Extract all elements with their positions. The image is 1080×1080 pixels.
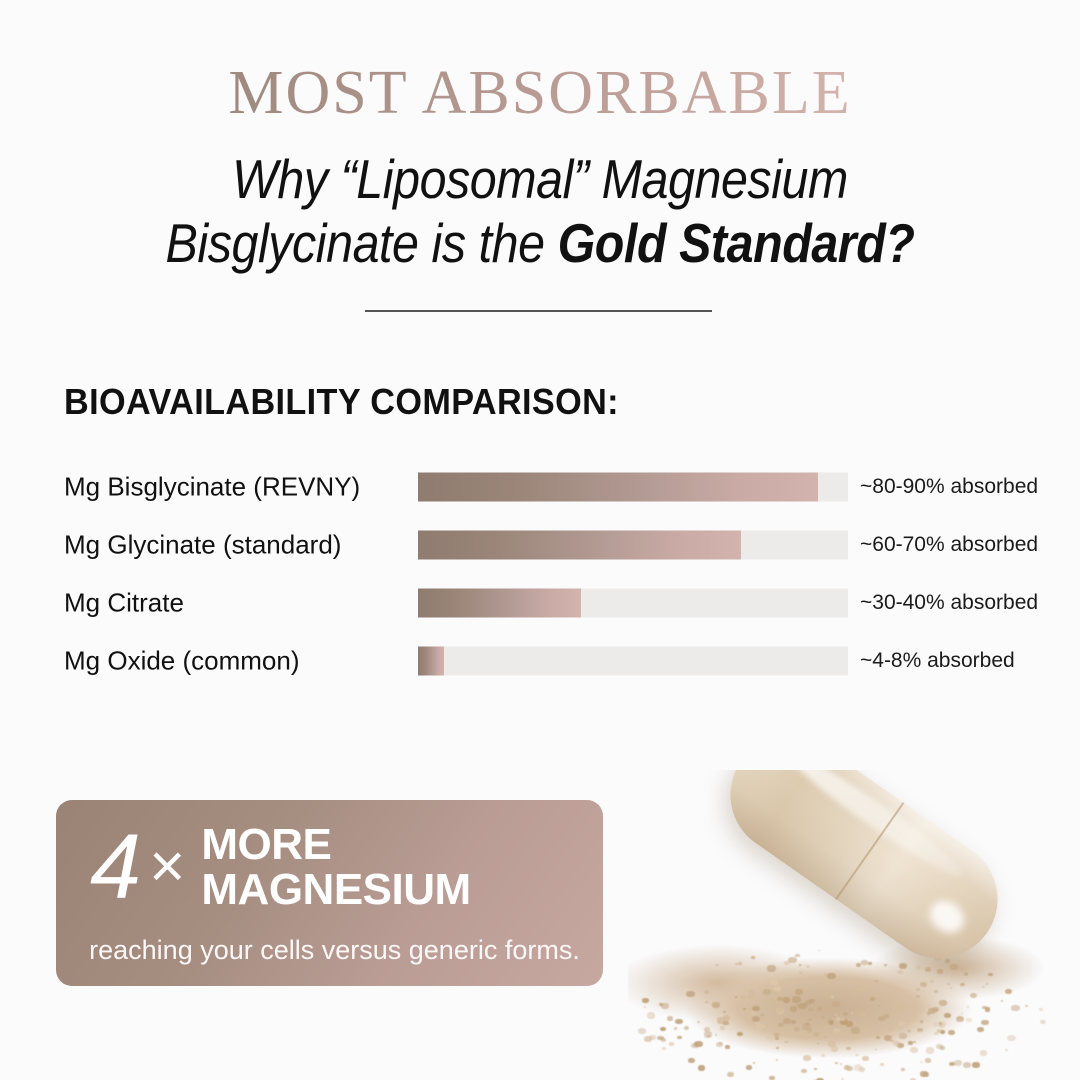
badge-headline-words: MORE MAGNESIUM	[201, 822, 470, 913]
chart-row: Mg Glycinate (standard) ~60-70% absorbed	[0, 516, 1080, 574]
badge-word-line-2: MAGNESIUM	[201, 865, 470, 914]
powder-grain	[884, 1014, 889, 1018]
powder-grain	[697, 1021, 700, 1023]
bar-track	[418, 473, 848, 502]
powder-grain	[950, 987, 953, 989]
bar-value-label: ~4-8% absorbed	[860, 649, 1015, 673]
powder-grain	[846, 1047, 851, 1050]
powder-grain	[813, 1032, 820, 1037]
powder-grain	[784, 961, 789, 965]
powder-grain	[778, 1023, 783, 1027]
badge-headline: 4 × MORE MAGNESIUM	[90, 822, 585, 913]
powder-grain	[814, 1068, 817, 1070]
powder-grain	[817, 1043, 819, 1045]
powder-grain	[835, 1062, 838, 1064]
bar-category-label: Mg Bisglycinate (REVNY)	[64, 472, 360, 503]
powder-grain	[907, 1030, 910, 1032]
powder-grain	[930, 980, 934, 983]
powder-grain	[884, 1035, 892, 1041]
powder-grain	[895, 1027, 898, 1029]
powder-grain	[920, 1020, 923, 1022]
powder-grain	[738, 962, 742, 965]
powder-grain	[966, 1018, 971, 1022]
powder-grain	[783, 997, 790, 1003]
chart-row: Mg Citrate ~30-40% absorbed	[0, 574, 1080, 632]
powder-grain	[861, 960, 868, 965]
powder-grain	[761, 1014, 764, 1016]
powder-grain	[737, 1032, 743, 1036]
powder-grain	[893, 1041, 900, 1046]
bar-category-label: Mg Citrate	[64, 588, 184, 619]
powder-grain	[698, 1065, 705, 1070]
powder-grain	[948, 1030, 955, 1035]
bar-track	[418, 589, 848, 618]
powder-grain	[823, 984, 825, 986]
powder-grain	[762, 1025, 766, 1028]
powder-grain	[876, 1036, 880, 1039]
powder-grain	[674, 1027, 678, 1030]
powder-grain	[947, 983, 950, 985]
powder-grain	[833, 1028, 840, 1034]
powder-grain	[736, 977, 739, 980]
powder-grain	[855, 1054, 858, 1057]
powder-grain	[980, 1050, 987, 1055]
powder-grain	[908, 1041, 913, 1045]
bar-category-label: Mg Oxide (common)	[64, 646, 300, 677]
powder-grain	[925, 1058, 931, 1062]
powder-grain	[796, 1004, 798, 1006]
powder-grain	[917, 1028, 922, 1032]
powder-grain	[1039, 1008, 1043, 1011]
powder-grain	[667, 1016, 673, 1021]
powder-grain	[1025, 1005, 1029, 1008]
powder-grain	[703, 986, 709, 991]
powder-grain	[986, 983, 988, 985]
powder-grain	[799, 972, 802, 974]
powder-grain	[776, 1047, 779, 1049]
powder-grain	[767, 965, 775, 971]
highlight-badge: 4 × MORE MAGNESIUM reaching your cells v…	[56, 800, 603, 986]
powder-grain	[831, 996, 834, 998]
powder-grain	[642, 998, 648, 1003]
powder-grain	[880, 1063, 884, 1066]
bar-value-label: ~80-90% absorbed	[860, 475, 1038, 499]
powder-grain	[961, 1013, 963, 1015]
powder-grain	[649, 1035, 656, 1040]
powder-grain	[897, 970, 903, 974]
powder-grain	[843, 1012, 848, 1016]
section-heading: BIOAVAILABILITY COMPARISON:	[64, 381, 619, 423]
powder-grain	[704, 1027, 711, 1032]
subtitle-line-1: Why “Liposomal” Magnesium	[232, 148, 848, 210]
powder-grain	[776, 1059, 779, 1061]
powder-grain	[644, 1006, 647, 1008]
bar-track	[418, 647, 848, 676]
powder-grain	[817, 1007, 822, 1011]
powder-grain	[775, 1037, 779, 1040]
powder-grain	[913, 1041, 916, 1043]
infographic-canvas: MOST ABSORBABLE Why “Liposomal” Magnesiu…	[0, 0, 1080, 1080]
powder-grain	[774, 986, 781, 991]
powder-grain	[723, 1011, 726, 1013]
badge-word-line-1: MORE	[201, 820, 331, 869]
powder-grain	[769, 979, 777, 985]
powder-grain	[981, 1020, 988, 1026]
powder-grain	[691, 1043, 698, 1049]
powder-grain	[939, 1022, 942, 1024]
powder-grain	[791, 1020, 796, 1024]
multiply-icon: ×	[145, 836, 201, 898]
powder-grain	[859, 1012, 866, 1017]
powder-grain	[834, 1014, 837, 1016]
powder-grain	[735, 996, 738, 998]
powder-grain	[970, 993, 978, 999]
powder-grain	[884, 964, 887, 966]
bar-value-label: ~60-70% absorbed	[860, 533, 1038, 557]
bar-fill	[418, 589, 581, 618]
powder-grain	[1011, 1005, 1020, 1011]
divider	[365, 310, 712, 312]
powder-grain	[899, 1033, 907, 1039]
powder-grain	[927, 1012, 930, 1014]
powder-grain	[743, 1008, 746, 1010]
powder-grain	[870, 997, 874, 1000]
powder-grain	[873, 992, 882, 998]
powder-grain	[776, 1007, 783, 1012]
powder-grain	[723, 1021, 728, 1025]
powder-grain	[977, 1027, 984, 1032]
powder-grain	[967, 1006, 969, 1008]
powder-grain	[808, 1018, 812, 1021]
powder-grain	[675, 1019, 683, 1025]
powder-grain	[686, 991, 694, 997]
bar-category-label: Mg Glycinate (standard)	[64, 530, 341, 561]
powder-grain	[807, 1028, 813, 1032]
powder-grain	[752, 1016, 760, 1022]
powder-grain	[795, 989, 803, 995]
powder-grain	[704, 990, 709, 994]
subtitle-emphasis: Gold Standard?	[558, 212, 915, 274]
powder-grain	[790, 1006, 797, 1011]
powder-grain	[878, 1005, 881, 1007]
bar-fill	[418, 647, 444, 676]
powder-grain	[846, 1021, 853, 1026]
powder-grain	[769, 1076, 774, 1080]
powder-grain	[808, 1008, 813, 1012]
powder-grain	[735, 963, 739, 966]
powder-grain	[988, 973, 993, 977]
powder-grain	[916, 965, 922, 969]
powder-grain	[945, 959, 950, 963]
powder-grain	[934, 1032, 938, 1035]
powder-grain	[705, 1001, 708, 1003]
chart-row: Mg Oxide (common) ~4-8% absorbed	[0, 632, 1080, 690]
bar-fill	[418, 531, 741, 560]
powder-grain	[821, 1054, 825, 1057]
powder-grain	[763, 989, 771, 995]
badge-multiplier-number: 4	[90, 824, 145, 911]
powder-grain	[960, 983, 965, 986]
bar-fill	[418, 473, 818, 502]
capsule-gloss	[783, 770, 969, 885]
powder-grain	[659, 1003, 663, 1006]
powder-grain	[937, 1029, 941, 1032]
powder-grain	[715, 1034, 718, 1036]
powder-grain	[982, 986, 985, 988]
powder-grain	[827, 973, 836, 980]
powder-grain	[832, 1001, 839, 1007]
powder-grain	[798, 1003, 806, 1009]
powder-grain	[1005, 1049, 1008, 1051]
powder-grain	[944, 1013, 951, 1018]
powder-grain	[963, 1062, 971, 1068]
powder-grain	[854, 1064, 863, 1071]
powder-grain	[836, 1017, 841, 1021]
powder-grain	[716, 964, 719, 966]
powder-grain	[1007, 1035, 1016, 1042]
powder-grain	[801, 1069, 807, 1073]
capsule-product-photo	[610, 770, 1080, 1080]
powder-grain	[725, 1045, 730, 1048]
powder-grain	[964, 972, 969, 976]
powder-grain	[875, 980, 878, 982]
powder-grain	[852, 999, 855, 1001]
bar-track	[418, 531, 848, 560]
powder-grain	[753, 1062, 756, 1064]
powder-grain	[920, 1071, 927, 1076]
powder-grain	[972, 1062, 980, 1068]
powder-grain	[741, 996, 745, 999]
powder-grain	[985, 1007, 990, 1011]
powder-grain	[901, 1068, 905, 1071]
powder-grain	[910, 1047, 918, 1053]
powder-grain	[856, 963, 861, 967]
bar-value-label: ~30-40% absorbed	[860, 591, 1038, 615]
powder-grain	[845, 1018, 848, 1020]
capsule-highlight	[924, 895, 970, 939]
powder-grain	[950, 964, 958, 970]
powder-grain	[647, 1012, 656, 1019]
powder-grain	[669, 1042, 674, 1046]
eyebrow-title: MOST ABSORBABLE	[0, 58, 1080, 129]
powder-grain	[954, 1060, 962, 1066]
powder-grain	[752, 1006, 760, 1012]
powder-grain	[840, 1063, 842, 1065]
chart-row: Mg Bisglycinate (REVNY) ~80-90% absorbed	[0, 458, 1080, 516]
powder-grain	[662, 1047, 665, 1049]
powder-grain	[1040, 1020, 1046, 1025]
powder-grain	[638, 1028, 646, 1034]
powder-grain	[949, 1062, 955, 1067]
powder-grain	[712, 1002, 719, 1008]
powder-grain	[926, 1047, 935, 1054]
powder-grain	[889, 1028, 892, 1030]
powder-grain	[803, 1055, 811, 1061]
bioavailability-bar-chart: Mg Bisglycinate (REVNY) ~80-90% absorbed…	[0, 458, 1080, 690]
powder-grain	[939, 1000, 947, 1006]
powder-grain	[1005, 989, 1012, 994]
powder-grain	[799, 964, 801, 966]
powder-grain	[862, 1056, 869, 1061]
powder-grain	[661, 1038, 666, 1042]
powder-grain	[899, 963, 907, 969]
powder-grain	[751, 1011, 755, 1014]
powder-grain	[677, 1036, 681, 1039]
powder-grain	[920, 1061, 923, 1063]
powder-grain	[824, 1036, 827, 1038]
powder-grain	[794, 1027, 800, 1032]
powder-grain	[846, 1066, 853, 1071]
powder-grain	[925, 967, 932, 972]
powder-grain	[768, 1036, 774, 1041]
powder-grain	[751, 956, 754, 958]
powder-grain	[910, 973, 912, 975]
powder-grain	[934, 990, 939, 993]
powder-grain	[727, 1072, 734, 1077]
powder-grain	[920, 982, 928, 988]
powder-grain	[937, 969, 943, 973]
powder-grain	[777, 997, 782, 1001]
powder-grain	[688, 1058, 695, 1063]
powder-grain	[746, 1065, 752, 1069]
powder-grain	[720, 1026, 725, 1029]
badge-subtext: reaching your cells versus generic forms…	[86, 935, 583, 966]
powder-grain	[956, 1016, 965, 1022]
powder-grain	[818, 950, 820, 952]
page-title: Why “Liposomal” Magnesium Bisglycinate i…	[109, 148, 971, 276]
powder-grain	[1001, 1000, 1004, 1002]
powder-grain	[660, 1027, 666, 1032]
powder-grain	[851, 1027, 860, 1033]
powder-grain	[684, 1026, 690, 1030]
powder-grain	[904, 1014, 907, 1016]
subtitle-line-2: Bisglycinate is the	[166, 212, 558, 274]
powder-grain	[898, 1004, 907, 1010]
powder-grain	[708, 1035, 710, 1037]
powder-grain	[875, 1049, 877, 1051]
powder-grain	[806, 965, 810, 968]
powder-grain	[881, 1026, 884, 1028]
powder-grain	[932, 1007, 939, 1012]
powder-grain	[916, 988, 921, 992]
powder-grain	[916, 995, 920, 998]
powder-grain	[821, 1016, 825, 1019]
powder-grain	[785, 1041, 789, 1044]
powder-grain	[792, 996, 801, 1003]
powder-grain	[898, 1021, 905, 1026]
powder-grain	[783, 1018, 791, 1024]
powder-grain	[858, 987, 865, 992]
powder-grain	[868, 962, 871, 965]
powder-grain	[851, 1012, 853, 1014]
